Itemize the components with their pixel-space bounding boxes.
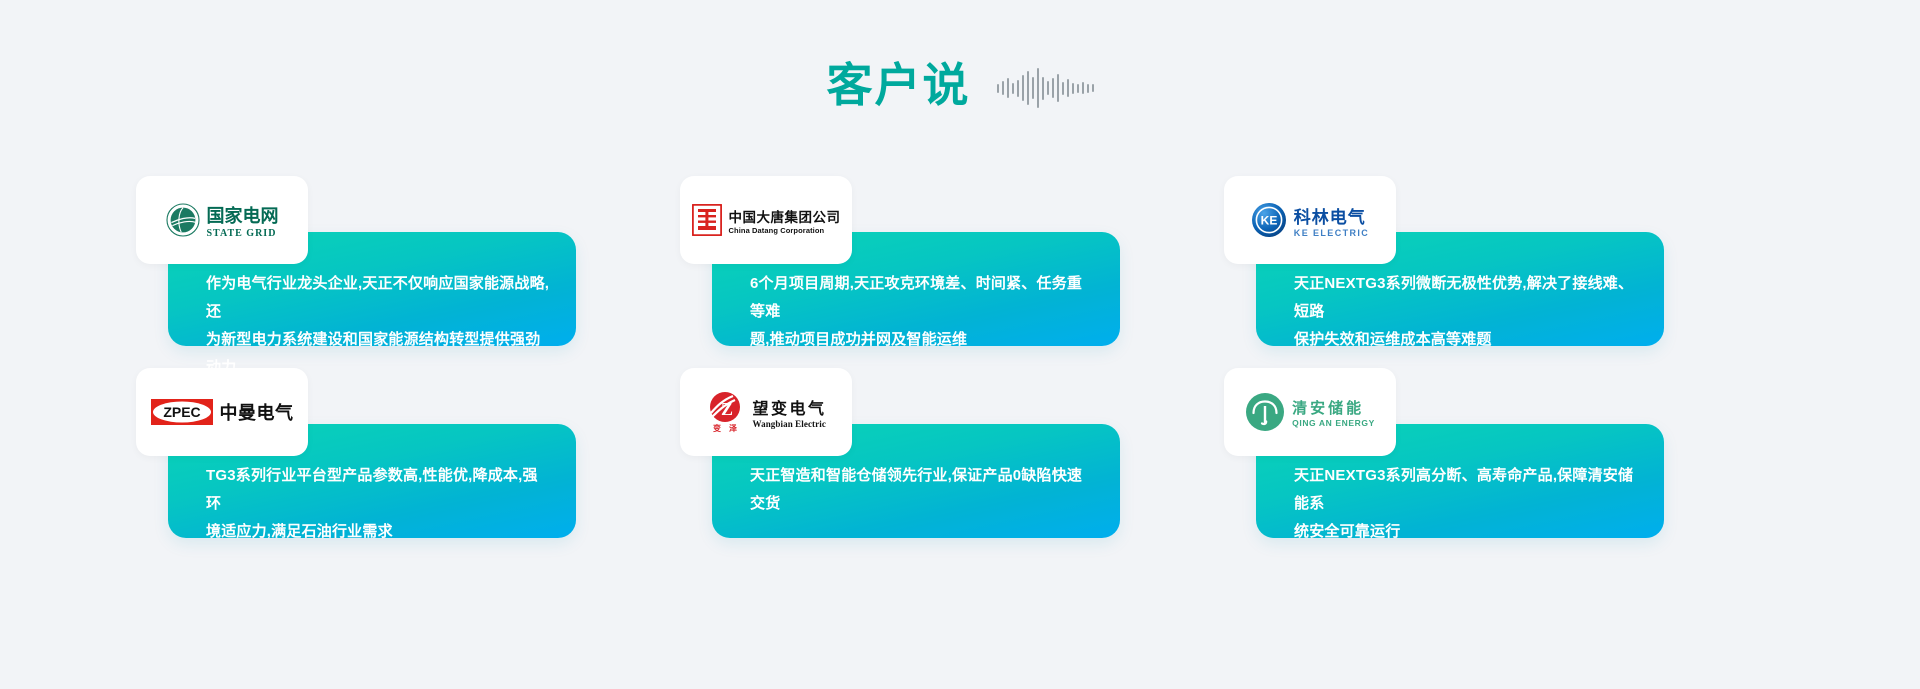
brand-name-en: Wangbian Electric [752,419,826,429]
testimonial-quote: 天正NEXTG3系列高分断、高寿命产品,保障清安储能系 统安全可靠运行 [1294,462,1638,546]
qingan-energy-logo-icon [1245,392,1285,432]
state-grid-logo-icon [166,203,200,237]
waveform-bar [1067,79,1069,97]
testimonial-quote: 天正智造和智能仓储领先行业,保证产品0缺陷快速交货 [750,462,1094,518]
brand-logo-plaque: KE 科林电气 KE ELECTRIC [1224,176,1396,264]
waveform-bar [1082,82,1084,94]
waveform-bar [1037,68,1039,108]
page-title: 客户说 [827,62,971,108]
testimonial-card[interactable]: 天正NEXTG3系列微断无极性优势,解决了接线难、短路 保护失效和运维成本高等难… [1224,176,1664,346]
brand-name-cn: 中曼电气 [220,399,294,425]
waveform-bar [1062,82,1064,95]
brand-name-cn: 中国大唐集团公司 [729,206,841,226]
waveform-bar [1042,77,1044,100]
waveform-bar [1032,77,1034,99]
waveform-bar [1052,78,1054,98]
svg-text:ZPEC: ZPEC [163,404,200,420]
brand-name-en: STATE GRID [207,228,279,239]
waveform-bar [1047,81,1049,95]
testimonial-card[interactable]: 作为电气行业龙头企业,天正不仅响应国家能源战略,还 为新型电力系统建设和国家能源… [136,176,576,346]
testimonial-quote: TG3系列行业平台型产品参数高,性能优,降成本,强环 境适应力,满足石油行业需求 [206,462,550,546]
svg-text:变: 变 [713,423,721,433]
brand-logo-plaque: 清安储能 QING AN ENERGY [1224,368,1396,456]
china-datang-logo-icon [692,204,722,236]
brand-logo-plaque: Z 变 泽 望变电气 Wangbian Electric [680,368,852,456]
brand-name-en: KE ELECTRIC [1294,228,1369,238]
testimonial-card[interactable]: 天正NEXTG3系列高分断、高寿命产品,保障清安储能系 统安全可靠运行 清安储能 [1224,368,1664,538]
section-header: 客户说 [0,62,1920,108]
brand-name-cn: 国家电网 [207,202,279,228]
testimonial-card[interactable]: 天正智造和智能仓储领先行业,保证产品0缺陷快速交货 Z 变 泽 [680,368,1120,538]
waveform-bar [1007,78,1009,98]
audio-waveform-icon [997,68,1094,108]
waveform-bar [1022,75,1024,101]
testimonial-quote: 6个月项目周期,天正攻克环境差、时间紧、任务重等难 题,推动项目成功并网及智能运… [750,270,1094,354]
zpec-logo-icon: ZPEC [151,399,213,425]
ke-electric-logo-icon: KE [1251,202,1287,238]
brand-name-en: China Datang Corporation [729,226,841,235]
brand-name-cn: 望变电气 [752,395,826,419]
waveform-bar [1002,81,1004,95]
brand-logo-plaque: 中国大唐集团公司 China Datang Corporation [680,176,852,264]
brand-logo-plaque: 国家电网 STATE GRID [136,176,308,264]
waveform-bar [1087,84,1089,93]
brand-logo-plaque: ZPEC 中曼电气 [136,368,308,456]
svg-text:泽: 泽 [729,423,737,433]
waveform-bar [1012,83,1014,94]
brand-name-cn: 科林电气 [1294,203,1369,228]
brand-name-cn: 清安储能 [1292,397,1375,418]
testimonial-card-grid: 作为电气行业龙头企业,天正不仅响应国家能源战略,还 为新型电力系统建设和国家能源… [136,176,1784,538]
testimonial-card[interactable]: 6个月项目周期,天正攻克环境差、时间紧、任务重等难 题,推动项目成功并网及智能运… [680,176,1120,346]
waveform-bar [997,84,999,93]
testimonial-quote: 天正NEXTG3系列微断无极性优势,解决了接线难、短路 保护失效和运维成本高等难… [1294,270,1638,354]
waveform-bar [1017,80,1019,97]
testimonial-card[interactable]: TG3系列行业平台型产品参数高,性能优,降成本,强环 境适应力,满足石油行业需求… [136,368,576,538]
waveform-bar [1077,84,1079,93]
brand-name-en: QING AN ENERGY [1292,418,1375,428]
waveform-bar [1057,74,1059,102]
waveform-bar [1027,71,1029,105]
waveform-bar [1092,84,1094,92]
svg-text:Z: Z [721,399,733,419]
svg-text:KE: KE [1260,214,1277,228]
testimonial-quote: 作为电气行业龙头企业,天正不仅响应国家能源战略,还 为新型电力系统建设和国家能源… [206,270,550,382]
customer-testimonials-section: 客户说 作为电气行业龙头企业,天正不仅响应国家能源战略,还 为新型电力系统建设和… [0,0,1920,689]
wangbian-electric-logo-icon: Z 变 泽 [705,390,745,434]
waveform-bar [1072,83,1074,94]
